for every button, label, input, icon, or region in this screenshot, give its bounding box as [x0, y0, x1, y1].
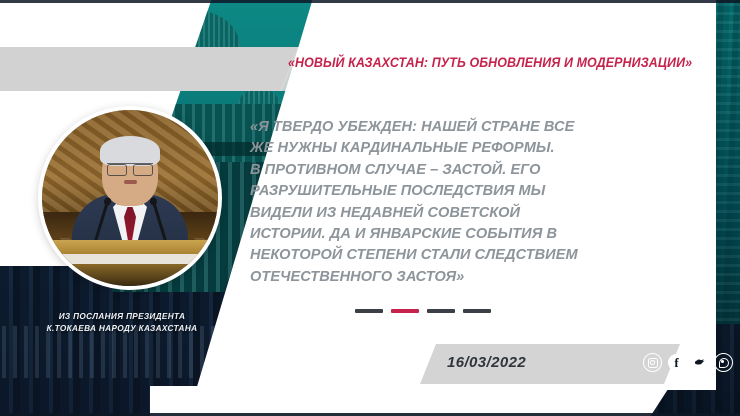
twitter-icon[interactable] [691, 354, 708, 371]
top-edge-strip [0, 0, 740, 3]
dash-mark [463, 309, 491, 313]
quote-line: ВИДЕЛИ ИЗ НЕДАВНЕЙ СОВЕТСКОЙ [250, 202, 653, 223]
social-icon-group: f [643, 353, 733, 372]
quote-line: РАЗРУШИТЕЛЬНЫЕ ПОСЛЕДСТВИЯ МЫ [250, 180, 653, 201]
quote-line: В ПРОТИВНОМ СЛУЧАЕ – ЗАСТОЙ. ЕГО [250, 159, 653, 180]
caption-line: К.ТОКАЕВА НАРОДУ КАЗАХСТАНА [22, 323, 222, 335]
content-sheet-bottom [150, 386, 670, 416]
dash-mark-accent [391, 309, 419, 313]
quote-line: ОТЕЧЕСТВЕННОГО ЗАСТОЯ» [250, 266, 653, 287]
quote-line: «Я ТВЕРДО УБЕЖДЕН: НАШЕЙ СТРАНЕ ВСЕ [250, 116, 653, 137]
dash-separator-group [355, 309, 491, 313]
quote-line: ИСТОРИИ. ДА И ЯНВАРСКИЕ СОБЫТИЯ В [250, 223, 653, 244]
facebook-icon[interactable]: f [668, 354, 685, 371]
poster-headline: «НОВЫЙ КАЗАХСТАН: ПУТЬ ОБНОВЛЕНИЯ И МОДЕ… [288, 55, 669, 70]
poster-canvas: «НОВЫЙ КАЗАХСТАН: ПУТЬ ОБНОВЛЕНИЯ И МОДЕ… [0, 0, 740, 416]
whatsapp-icon[interactable] [714, 353, 733, 372]
gray-accent-bar [0, 47, 310, 91]
dash-mark [355, 309, 383, 313]
portrait-podium [42, 240, 218, 286]
quote-text: «Я ТВЕРДО УБЕЖДЕН: НАШЕЙ СТРАНЕ ВСЕ ЖЕ Н… [250, 116, 670, 287]
publish-date: 16/03/2022 [447, 354, 526, 371]
quote-line: НЕКОТОРОЙ СТЕПЕНИ СТАЛИ СЛЕДСТВИЕМ [250, 244, 653, 265]
dash-mark [427, 309, 455, 313]
instagram-icon[interactable] [643, 353, 662, 372]
portrait-glasses [107, 163, 153, 175]
portrait-caption: ИЗ ПОСЛАНИЯ ПРЕЗИДЕНТА К.ТОКАЕВА НАРОДУ … [22, 311, 222, 336]
quote-line: ЖЕ НУЖНЫ КАРДИНАЛЬНЫЕ РЕФОРМЫ. [250, 137, 653, 158]
caption-line: ИЗ ПОСЛАНИЯ ПРЕЗИДЕНТА [22, 311, 222, 323]
president-portrait [38, 106, 222, 290]
portrait-mouth [124, 180, 137, 184]
